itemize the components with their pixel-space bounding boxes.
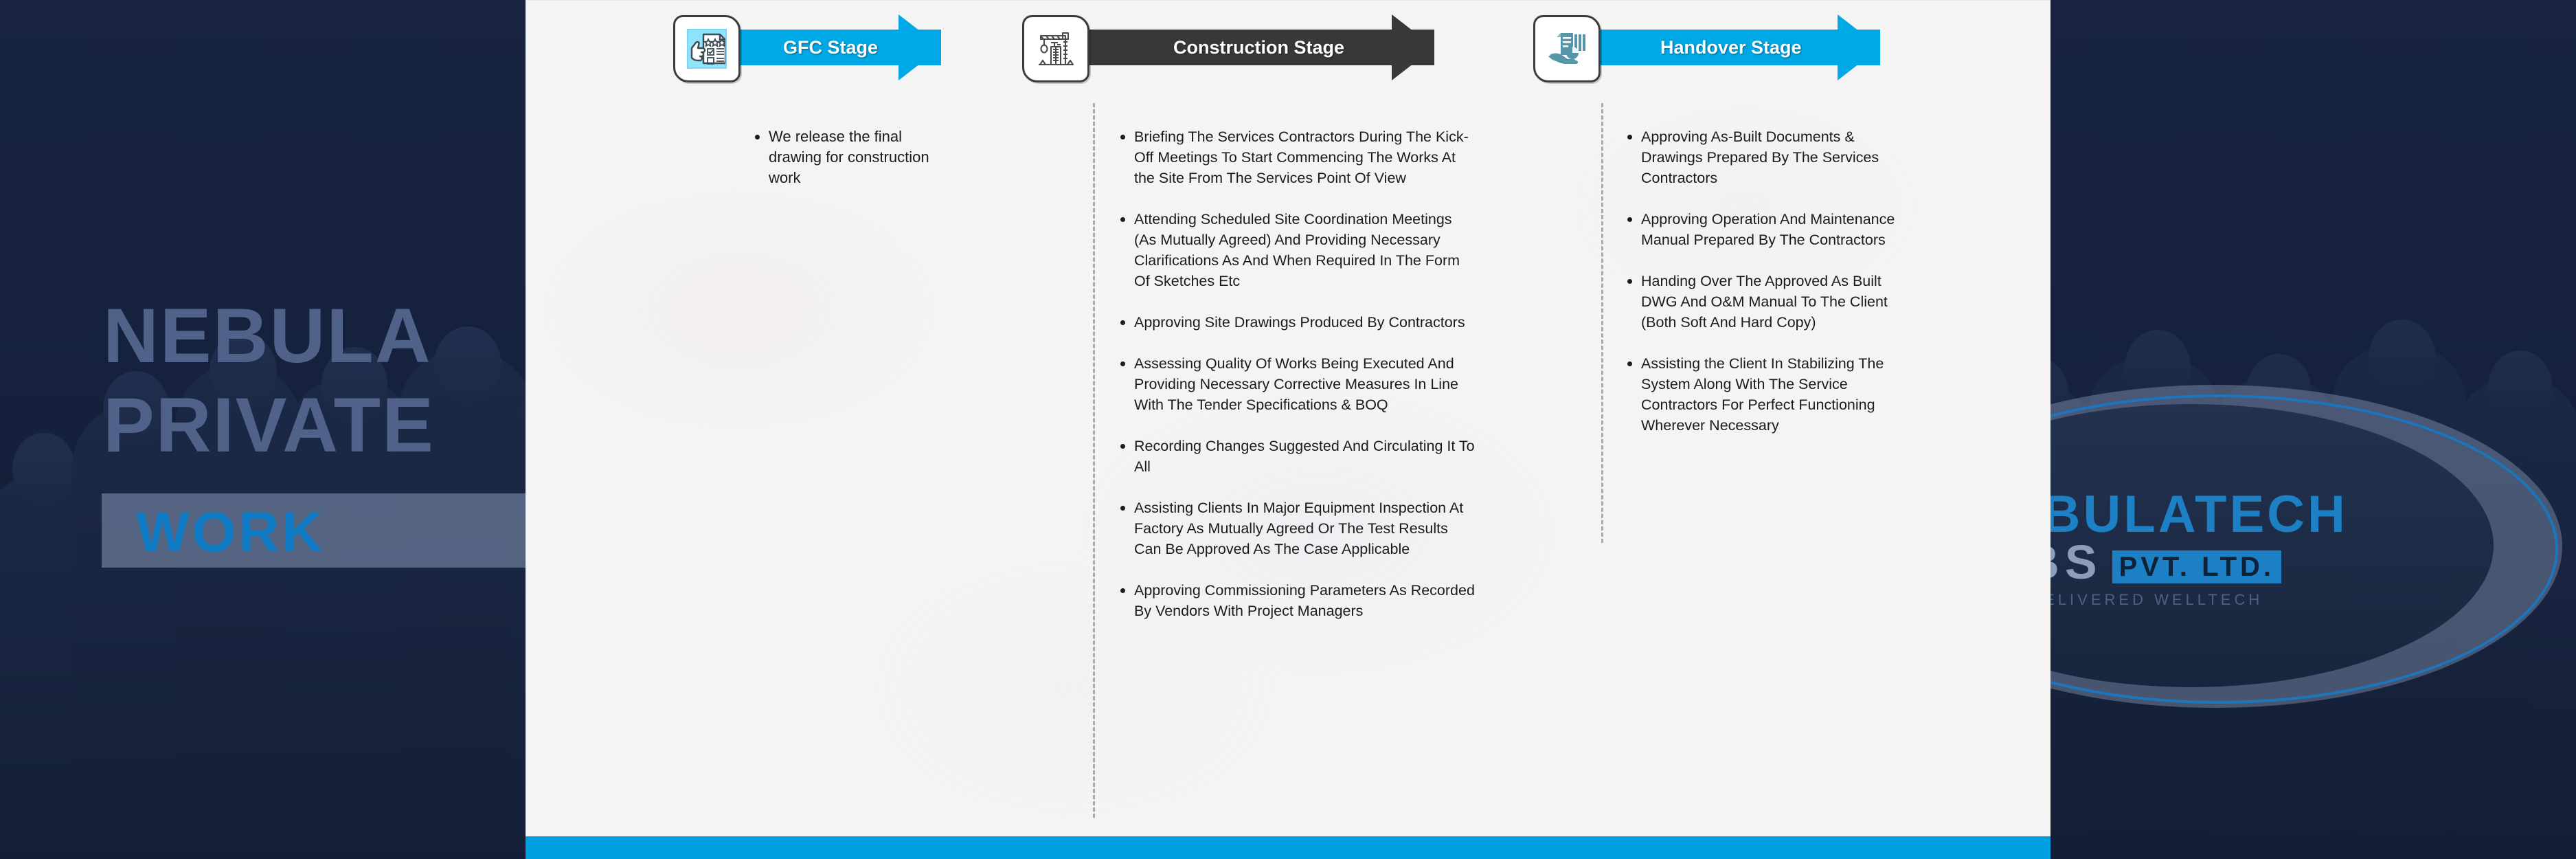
stage-handover-arrow: Handover Stage: [1574, 30, 1880, 65]
list-item: Approving Commissioning Parameters As Re…: [1118, 580, 1475, 621]
list-item: Briefing The Services Contractors During…: [1118, 126, 1475, 188]
stage-construction[interactable]: Construction Stage: [1022, 15, 1445, 91]
stage-handover-label: Handover Stage: [1660, 30, 1802, 65]
stage-construction-arrow-head: [1392, 14, 1434, 80]
stage-gfc-label: GFC Stage: [783, 30, 878, 65]
list-item: Assisting Clients In Major Equipment Ins…: [1118, 498, 1475, 559]
approved-document-thumbs-up-icon: [673, 15, 741, 82]
slide-bottom-accent-bar: [526, 836, 2050, 859]
background-headline-strip-text: WORK: [136, 500, 326, 565]
slide-panel: GFC Stage: [526, 0, 2050, 859]
bullet-column-gfc: We release the final drawing for constru…: [752, 126, 958, 209]
column-divider-2: [1601, 103, 1603, 543]
stage-gfc-arrow-head: [899, 14, 941, 80]
list-item: Recording Changes Suggested And Circulat…: [1118, 436, 1475, 477]
list-item: Approving Operation And Maintenance Manu…: [1625, 209, 1899, 250]
column-divider-1: [1093, 103, 1095, 818]
list-item: Approving As-Built Documents & Drawings …: [1625, 126, 1899, 188]
list-item: We release the final drawing for constru…: [752, 126, 958, 188]
bullet-column-construction: Briefing The Services Contractors During…: [1118, 126, 1475, 642]
list-item: Approving Site Drawings Produced By Cont…: [1118, 312, 1475, 333]
stage-handover-arrow-head: [1838, 14, 1880, 80]
bullet-column-handover: Approving As-Built Documents & Drawings …: [1625, 126, 1899, 456]
stage-handover[interactable]: Handover Stage: [1533, 15, 1890, 91]
stage-gfc-arrow: GFC Stage: [714, 30, 941, 65]
stage-header-row: GFC Stage: [526, 0, 2050, 110]
construction-crane-building-icon: [1022, 15, 1089, 82]
hand-holding-document-icon: [1533, 15, 1601, 82]
stage-construction-label: Construction Stage: [1173, 30, 1344, 65]
list-item: Assessing Quality Of Works Being Execute…: [1118, 353, 1475, 415]
list-item: Attending Scheduled Site Coordination Me…: [1118, 209, 1475, 291]
list-item: Assisting the Client In Stabilizing The …: [1625, 353, 1899, 436]
stage-gfc[interactable]: GFC Stage: [673, 15, 948, 91]
stage-construction-arrow: Construction Stage: [1063, 30, 1434, 65]
logo-badge-text: PVT. LTD.: [2112, 550, 2281, 583]
list-item: Handing Over The Approved As Built DWG A…: [1625, 271, 1899, 333]
